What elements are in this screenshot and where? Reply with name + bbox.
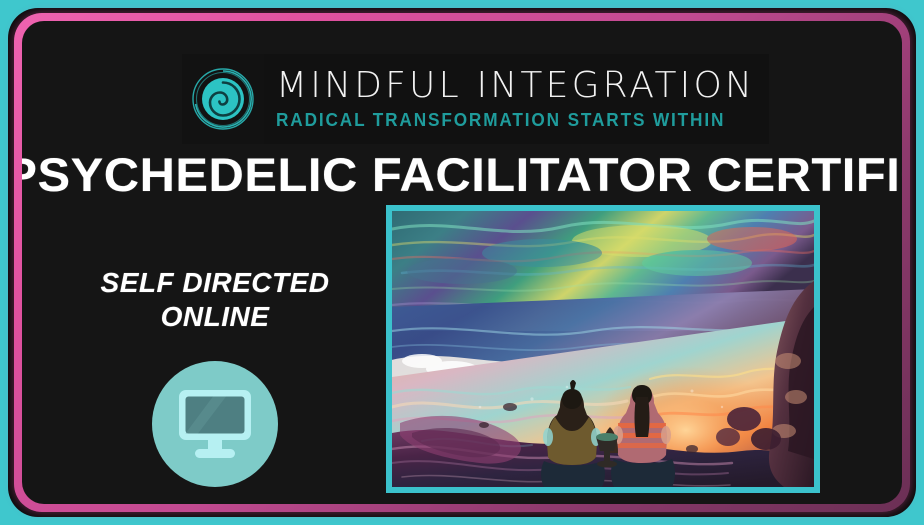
brand-logo: MINDFUL INTEGRATION RADICAL TRANSFORMATI… [182,54,769,144]
poster-root: MINDFUL INTEGRATION RADICAL TRANSFORMATI… [0,0,924,525]
delivery-mode-line-2: ONLINE [70,300,360,334]
delivery-mode-line-1: SELF DIRECTED [70,266,360,300]
poster-canvas: MINDFUL INTEGRATION RADICAL TRANSFORMATI… [22,21,902,504]
artwork-frame [386,205,820,493]
delivery-icon-wrap [70,361,360,487]
brand-text-block: MINDFUL INTEGRATION RADICAL TRANSFORMATI… [264,54,769,144]
monitor-icon [152,361,278,487]
brand-tagline: RADICAL TRANSFORMATION STARTS WITHIN [276,110,725,130]
delivery-mode-block: SELF DIRECTED ONLINE [70,266,360,487]
artwork-illustration [392,211,814,487]
page-title: PSYCHEDELIC FACILITATOR CERTIFICATION [22,147,902,202]
spiral-icon [182,54,264,144]
brand-name: MINDFUL INTEGRATION [276,67,759,105]
